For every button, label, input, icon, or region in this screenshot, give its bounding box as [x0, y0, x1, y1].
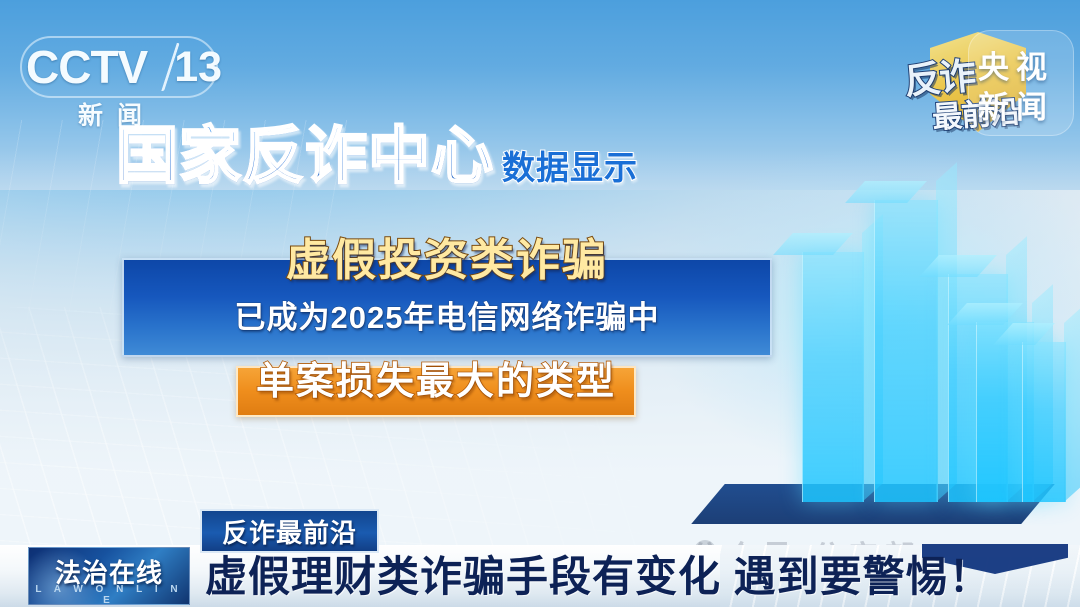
- network-watermark-line1: 央视: [978, 42, 1054, 87]
- segment-tag: 反诈最前沿: [200, 509, 379, 553]
- info-panel: 虚假投资类诈骗 已成为2025年电信网络诈骗中: [122, 258, 772, 357]
- corner-logo-group: 反诈 最前沿 央视 新闻: [904, 26, 1080, 144]
- bar-chart-graphic: [790, 190, 1070, 520]
- chart-bar: [874, 200, 938, 502]
- page-title: 国家反诈中心 数据显示: [116, 126, 638, 188]
- broadcast-frame: CCTV 13 新闻 反诈 最前沿 央视 新闻 国家反诈中心 数据显示 虚假投资…: [0, 0, 1080, 607]
- program-badge-subtitle: L A W O N L I N E: [29, 584, 189, 605]
- cctv-channel-number: 13: [174, 43, 222, 92]
- info-panel-line2: 已成为2025年电信网络诈骗中: [124, 302, 770, 333]
- lower-third-headline: 虚假理财类诈骗手段有变化 遇到要警惕！: [205, 549, 992, 605]
- program-badge: 法治在线 L A W O N L I N E: [28, 547, 190, 605]
- network-watermark-line2: 新闻: [978, 82, 1054, 127]
- chart-bar-side-face: [1064, 304, 1080, 502]
- cctv-channel-logo: CCTV 13 新闻: [26, 40, 226, 128]
- cctv-logo-row: CCTV 13: [26, 40, 226, 94]
- page-title-main: 国家反诈中心: [116, 126, 494, 188]
- info-panel-emphasis: 虚假投资类诈骗: [124, 239, 770, 283]
- chart-bar: [1022, 342, 1066, 502]
- highlight-banner-text: 单案损失最大的类型: [238, 363, 634, 401]
- segment-tag-label: 反诈最前沿: [222, 513, 357, 550]
- chart-bar: [802, 252, 864, 502]
- page-title-sub: 数据显示: [502, 151, 638, 184]
- lower-third-banner: 法治在线 L A W O N L I N E 反诈最前沿 虚假理财类诈骗手段有变…: [0, 545, 1080, 607]
- cctv-wordmark: CCTV: [26, 40, 147, 94]
- highlight-banner: 单案损失最大的类型: [236, 366, 636, 417]
